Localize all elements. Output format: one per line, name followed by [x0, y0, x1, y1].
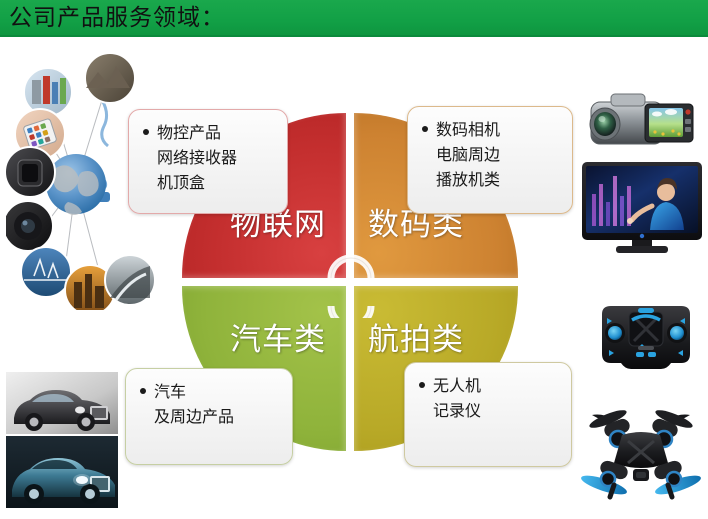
bullet-icon	[140, 388, 146, 394]
callout-text: 无人机	[433, 376, 481, 395]
callout-aerial: 无人机 记录仪	[404, 362, 572, 467]
callout-digital: 数码相机 电脑周边 播放机类	[407, 106, 573, 214]
callout-line: 机顶盒	[143, 170, 275, 195]
callout-line: 网络接收器	[143, 145, 275, 170]
bullet-icon	[419, 382, 425, 388]
callout-line: 无人机	[419, 373, 559, 398]
bullet-icon	[422, 126, 428, 132]
header-banner: 公司产品服务领域：	[0, 0, 708, 37]
luxury-car-teal-image	[6, 436, 118, 508]
callout-line: 及周边产品	[140, 404, 280, 429]
quadrant-label-aerial: 航拍类	[368, 323, 464, 357]
callout-text: 汽车	[154, 382, 186, 401]
quadrant-label-automotive: 汽车类	[230, 323, 326, 357]
luxury-car-dark-image	[6, 372, 118, 434]
callout-line: 物控产品	[143, 120, 275, 145]
callout-line: 记录仪	[419, 398, 559, 423]
callout-line: 电脑周边	[422, 142, 560, 167]
page-title: 公司产品服务领域：	[9, 3, 225, 33]
callout-automotive: 汽车 及周边产品	[125, 368, 293, 465]
callout-line: 汽车	[140, 379, 280, 404]
callout-text: 物控产品	[157, 123, 221, 142]
callout-line: 播放机类	[422, 167, 560, 192]
callout-text: 数码相机	[436, 120, 500, 139]
quadcopter-drone-image	[578, 385, 704, 505]
bullet-icon	[143, 129, 149, 135]
television-image	[580, 158, 704, 258]
camcorder-image	[583, 88, 701, 160]
slide-canvas: 公司产品服务领域：	[0, 0, 708, 519]
callout-iot: 物控产品 网络接收器 机顶盒	[128, 109, 288, 214]
callout-line: 数码相机	[422, 117, 560, 142]
drone-controller-image	[596, 300, 696, 375]
